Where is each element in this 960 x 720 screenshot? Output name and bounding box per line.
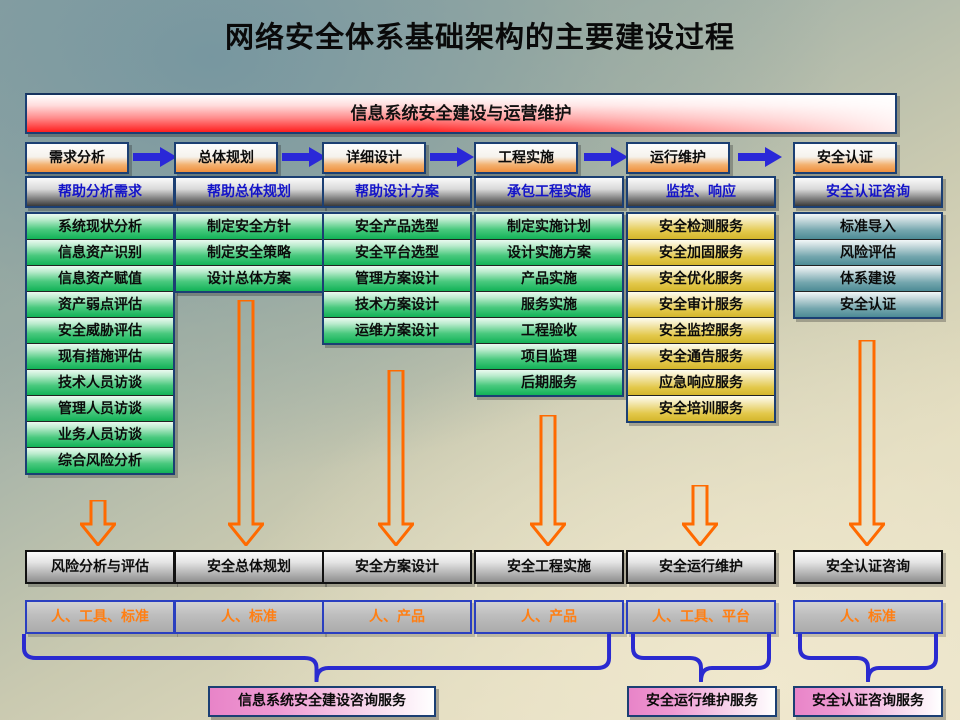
list-item[interactable]: 安全监控服务 — [628, 318, 774, 344]
service-box-3[interactable]: 安全认证咨询服务 — [793, 686, 943, 717]
list-item[interactable]: 运维方案设计 — [324, 318, 470, 343]
list-item[interactable]: 信息资产赋值 — [27, 266, 173, 292]
flow-arrow-icon-3 — [430, 147, 474, 167]
stage-header-2[interactable]: 总体规划 — [174, 142, 278, 174]
sub-header-3[interactable]: 帮助设计方案 — [322, 176, 472, 208]
brace-connector-3 — [797, 634, 939, 682]
list-item[interactable]: 现有措施评估 — [27, 344, 173, 370]
list-item[interactable]: 后期服务 — [476, 370, 622, 395]
items-box-3: 安全产品选型 安全平台选型 管理方案设计 技术方案设计 运维方案设计 — [322, 212, 472, 345]
list-item[interactable]: 设计实施方案 — [476, 240, 622, 266]
list-item[interactable]: 资产弱点评估 — [27, 292, 173, 318]
list-item[interactable]: 综合风险分析 — [27, 448, 173, 473]
down-arrow-icon-2 — [228, 300, 264, 546]
list-item[interactable]: 管理方案设计 — [324, 266, 470, 292]
down-arrow-icon-1 — [80, 500, 116, 546]
flow-arrow-icon-4 — [584, 147, 628, 167]
list-item[interactable]: 安全培训服务 — [628, 396, 774, 421]
sub-header-5[interactable]: 监控、响应 — [626, 176, 776, 208]
down-arrow-icon-6 — [849, 340, 885, 546]
stage-header-5[interactable]: 运行维护 — [626, 142, 730, 174]
flow-arrow-icon-1 — [133, 147, 177, 167]
sub-header-1[interactable]: 帮助分析需求 — [25, 176, 175, 208]
items-box-6: 标准导入 风险评估 体系建设 安全认证 — [793, 212, 943, 319]
list-item[interactable]: 安全认证 — [795, 292, 941, 317]
result-box-2[interactable]: 安全总体规划 — [174, 550, 324, 584]
stage-header-3[interactable]: 详细设计 — [322, 142, 426, 174]
list-item[interactable]: 安全审计服务 — [628, 292, 774, 318]
sub-header-4[interactable]: 承包工程实施 — [474, 176, 624, 208]
result-box-3[interactable]: 安全方案设计 — [322, 550, 472, 584]
list-item[interactable]: 应急响应服务 — [628, 370, 774, 396]
list-item[interactable]: 技术人员访谈 — [27, 370, 173, 396]
result-box-4[interactable]: 安全工程实施 — [474, 550, 624, 584]
list-item[interactable]: 安全威胁评估 — [27, 318, 173, 344]
sub-header-6[interactable]: 安全认证咨询 — [793, 176, 943, 208]
items-box-2: 制定安全方针 制定安全策略 设计总体方案 — [174, 212, 324, 293]
list-item[interactable]: 安全平台选型 — [324, 240, 470, 266]
list-item[interactable]: 安全检测服务 — [628, 214, 774, 240]
list-item[interactable]: 制定安全方针 — [176, 214, 322, 240]
role-box-1: 人、工具、标准 — [25, 600, 175, 634]
stage-header-6[interactable]: 安全认证 — [793, 142, 897, 174]
list-item[interactable]: 安全加固服务 — [628, 240, 774, 266]
list-item[interactable]: 工程验收 — [476, 318, 622, 344]
result-box-5[interactable]: 安全运行维护 — [626, 550, 776, 584]
result-box-1[interactable]: 风险分析与评估 — [25, 550, 175, 584]
down-arrow-icon-4 — [530, 415, 566, 546]
role-box-5: 人、工具、平台 — [626, 600, 776, 634]
list-item[interactable]: 业务人员访谈 — [27, 422, 173, 448]
down-arrow-icon-5 — [682, 485, 718, 546]
role-box-4: 人、产品 — [474, 600, 624, 634]
list-item[interactable]: 风险评估 — [795, 240, 941, 266]
flow-arrow-icon-5 — [738, 147, 782, 167]
list-item[interactable]: 制定安全策略 — [176, 240, 322, 266]
list-item[interactable]: 管理人员访谈 — [27, 396, 173, 422]
list-item[interactable]: 安全优化服务 — [628, 266, 774, 292]
list-item[interactable]: 体系建设 — [795, 266, 941, 292]
diagram-canvas: 网络安全体系基础架构的主要建设过程 信息系统安全建设与运营维护 需求分析 帮助分… — [0, 0, 960, 720]
result-box-6[interactable]: 安全认证咨询 — [793, 550, 943, 584]
list-item[interactable]: 安全通告服务 — [628, 344, 774, 370]
list-item[interactable]: 设计总体方案 — [176, 266, 322, 291]
down-arrow-icon-3 — [378, 370, 414, 546]
role-box-3: 人、产品 — [322, 600, 472, 634]
stage-header-1[interactable]: 需求分析 — [25, 142, 129, 174]
list-item[interactable]: 服务实施 — [476, 292, 622, 318]
top-banner: 信息系统安全建设与运营维护 — [25, 93, 897, 134]
list-item[interactable]: 制定实施计划 — [476, 214, 622, 240]
flow-arrow-icon-2 — [282, 147, 326, 167]
list-item[interactable]: 系统现状分析 — [27, 214, 173, 240]
list-item[interactable]: 标准导入 — [795, 214, 941, 240]
list-item[interactable]: 信息资产识别 — [27, 240, 173, 266]
role-box-2: 人、标准 — [174, 600, 324, 634]
list-item[interactable]: 安全产品选型 — [324, 214, 470, 240]
role-box-6: 人、标准 — [793, 600, 943, 634]
sub-header-2[interactable]: 帮助总体规划 — [174, 176, 324, 208]
list-item[interactable]: 项目监理 — [476, 344, 622, 370]
items-box-1: 系统现状分析 信息资产识别 信息资产赋值 资产弱点评估 安全威胁评估 现有措施评… — [25, 212, 175, 475]
brace-connector-1 — [22, 634, 612, 682]
stage-header-4[interactable]: 工程实施 — [474, 142, 578, 174]
top-banner-label: 信息系统安全建设与运营维护 — [27, 95, 895, 132]
service-box-2[interactable]: 安全运行维护服务 — [627, 686, 777, 717]
list-item[interactable]: 产品实施 — [476, 266, 622, 292]
list-item[interactable]: 技术方案设计 — [324, 292, 470, 318]
brace-connector-2 — [630, 634, 772, 682]
items-box-5: 安全检测服务 安全加固服务 安全优化服务 安全审计服务 安全监控服务 安全通告服… — [626, 212, 776, 423]
items-box-4: 制定实施计划 设计实施方案 产品实施 服务实施 工程验收 项目监理 后期服务 — [474, 212, 624, 397]
service-box-1[interactable]: 信息系统安全建设咨询服务 — [208, 686, 436, 717]
page-title: 网络安全体系基础架构的主要建设过程 — [0, 14, 960, 56]
